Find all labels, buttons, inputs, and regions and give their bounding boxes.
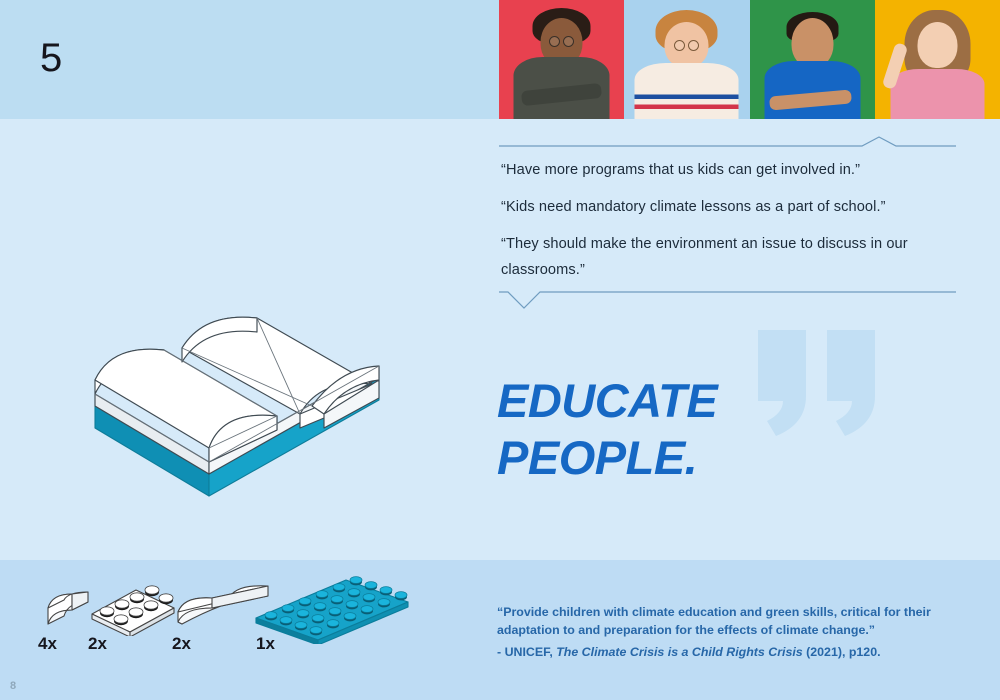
headline-line-1: EDUCATE — [497, 372, 717, 429]
torso-shape — [635, 63, 739, 119]
plate-4x6-icon — [252, 572, 412, 644]
quote-line: “Kids need mandatory climate lessons as … — [501, 195, 956, 221]
child-figure-yellow — [875, 0, 1000, 119]
citation-source-title: The Climate Crisis is a Child Rights Cri… — [556, 645, 803, 659]
child-figure-green — [750, 0, 875, 119]
decorative-quotation-mark-icon — [752, 330, 887, 440]
child-figure-red — [499, 0, 624, 119]
quote-rule-top — [499, 136, 956, 148]
glasses-icon — [674, 40, 699, 51]
child-quotes-block: “Have more programs that us kids can get… — [499, 136, 956, 302]
lego-model-illustration: .wf { fill:#ffffff; stroke:#3f4a52; stro… — [72, 300, 412, 522]
glasses-icon — [549, 36, 574, 47]
section-number: 5 — [40, 36, 63, 81]
photo-child-green — [750, 0, 875, 119]
quote-rule-top-icon — [499, 136, 956, 148]
photo-child-blue — [624, 0, 749, 119]
page-headline: EDUCATE PEOPLE. — [497, 372, 717, 487]
part-count-label: 2x — [172, 634, 191, 654]
head-shape — [917, 22, 957, 68]
headline-line-2: PEOPLE. — [497, 429, 717, 486]
part-count-label: 4x — [38, 634, 57, 654]
citation-source: - UNICEF, The Climate Crisis is a Child … — [497, 644, 957, 662]
citation-block: “Provide children with climate education… — [497, 604, 957, 662]
photo-child-red — [499, 0, 624, 119]
quote-rule-bottom-icon — [499, 290, 956, 312]
citation-quote: “Provide children with climate education… — [497, 605, 931, 637]
quote-list: “Have more programs that us kids can get… — [499, 148, 956, 290]
citation-source-suffix: (2021), p120. — [803, 645, 881, 659]
child-figure-blue — [624, 0, 749, 119]
page-number: 8 — [10, 680, 16, 692]
quote-rule-bottom — [499, 290, 956, 302]
child-photo-strip — [499, 0, 1000, 119]
curved-slope-1x2-icon — [38, 588, 94, 636]
citation-source-prefix: - UNICEF, — [497, 645, 556, 659]
quote-line: “Have more programs that us kids can get… — [501, 158, 956, 184]
parts-legend: 4x 2x 2x — [30, 572, 410, 672]
part-count-label: 1x — [256, 634, 275, 654]
part-plate-4x6 — [252, 572, 412, 649]
part-plate-2x4 — [88, 580, 178, 641]
torso-shape — [890, 69, 984, 119]
part-count-label: 2x — [88, 634, 107, 654]
quote-line: “They should make the environment an iss… — [501, 232, 956, 284]
photo-child-yellow — [875, 0, 1000, 119]
plate-2x4-icon — [88, 580, 178, 636]
